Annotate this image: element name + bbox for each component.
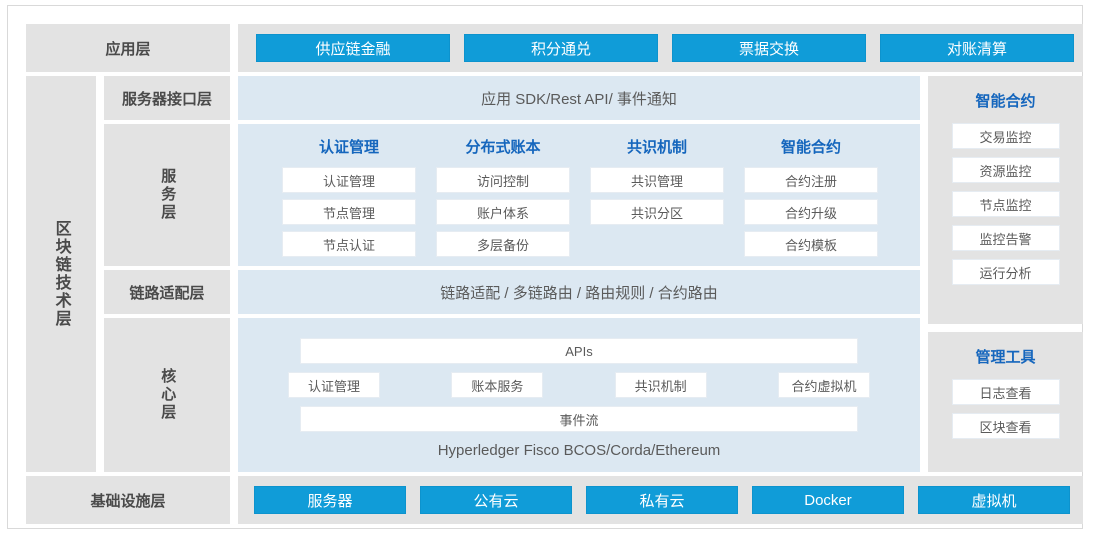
core-module-ledger-service[interactable]: 账本服务 — [451, 372, 543, 398]
application-layer-label: 应用层 — [26, 24, 230, 72]
core-event-stream-box[interactable]: 事件流 — [300, 406, 858, 432]
app-item-bill-exchange[interactable]: 票据交换 — [672, 34, 866, 62]
service-item[interactable]: 共识分区 — [590, 199, 724, 225]
service-column-distributed-ledger: 分布式账本 访问控制 账户体系 多层备份 — [436, 136, 570, 263]
link-adaptation-content: 链路适配 / 多链路由 / 路由规则 / 合约路由 — [238, 270, 920, 314]
panel-item-block-viewer[interactable]: 区块查看 — [952, 413, 1060, 439]
core-apis-box[interactable]: APIs — [300, 338, 858, 364]
infra-item-private-cloud[interactable]: 私有云 — [586, 486, 738, 514]
app-item-reconciliation-settlement[interactable]: 对账清算 — [880, 34, 1074, 62]
blockchain-tech-layer-label: 区块链技术层 — [26, 76, 96, 472]
app-item-points-exchange[interactable]: 积分通兑 — [464, 34, 658, 62]
service-item[interactable]: 节点管理 — [282, 199, 416, 225]
service-item[interactable]: 认证管理 — [282, 167, 416, 193]
panel-item-node-monitor[interactable]: 节点监控 — [952, 191, 1060, 217]
core-module-contract-vm[interactable]: 合约虚拟机 — [778, 372, 870, 398]
core-layer-label: 核心层 — [104, 318, 230, 472]
service-column-consensus: 共识机制 共识管理 共识分区 — [590, 136, 724, 231]
service-column-title: 智能合约 — [744, 136, 878, 157]
core-module-consensus[interactable]: 共识机制 — [615, 372, 707, 398]
service-item[interactable]: 多层备份 — [436, 231, 570, 257]
right-panel-management-tools: 管理工具 日志查看 区块查看 — [928, 332, 1083, 472]
service-layer-label: 服务层 — [104, 124, 230, 266]
panel-item-resource-monitor[interactable]: 资源监控 — [952, 157, 1060, 183]
server-interface-layer-label: 服务器接口层 — [104, 76, 230, 120]
infra-item-virtual-machine[interactable]: 虚拟机 — [918, 486, 1070, 514]
service-item[interactable]: 访问控制 — [436, 167, 570, 193]
link-adaptation-layer-label: 链路适配层 — [104, 270, 230, 314]
service-item[interactable]: 合约升级 — [744, 199, 878, 225]
core-module-auth[interactable]: 认证管理 — [288, 372, 380, 398]
service-column-title: 共识机制 — [590, 136, 724, 157]
right-panel-title: 智能合约 — [928, 90, 1083, 111]
panel-item-runtime-analysis[interactable]: 运行分析 — [952, 259, 1060, 285]
service-layer-content: 认证管理 认证管理 节点管理 节点认证 分布式账本 访问控制 账户体系 多层备份… — [238, 124, 920, 266]
panel-item-monitor-alarm[interactable]: 监控告警 — [952, 225, 1060, 251]
infra-item-public-cloud[interactable]: 公有云 — [420, 486, 572, 514]
service-column-title: 分布式账本 — [436, 136, 570, 157]
panel-item-transaction-monitor[interactable]: 交易监控 — [952, 123, 1060, 149]
service-item[interactable]: 节点认证 — [282, 231, 416, 257]
application-layer-strip: 供应链金融 积分通兑 票据交换 对账清算 — [238, 24, 1083, 72]
infra-item-server[interactable]: 服务器 — [254, 486, 406, 514]
service-item[interactable]: 合约注册 — [744, 167, 878, 193]
right-panel-smart-contract: 智能合约 交易监控 资源监控 节点监控 监控告警 运行分析 — [928, 76, 1083, 324]
service-item[interactable]: 共识管理 — [590, 167, 724, 193]
server-interface-content: 应用 SDK/Rest API/ 事件通知 — [238, 76, 920, 120]
infrastructure-layer-label: 基础设施层 — [26, 476, 230, 524]
panel-item-log-viewer[interactable]: 日志查看 — [952, 379, 1060, 405]
core-layer-content: APIs 认证管理 账本服务 共识机制 合约虚拟机 事件流 Hyperledge… — [238, 318, 920, 472]
service-item[interactable]: 合约模板 — [744, 231, 878, 257]
app-item-supply-chain-finance[interactable]: 供应链金融 — [256, 34, 450, 62]
service-column-title: 认证管理 — [282, 136, 416, 157]
service-item[interactable]: 账户体系 — [436, 199, 570, 225]
infrastructure-layer-strip: 服务器 公有云 私有云 Docker 虚拟机 — [238, 476, 1083, 524]
diagram-frame: 应用层 供应链金融 积分通兑 票据交换 对账清算 区块链技术层 服务器接口层 服… — [7, 5, 1083, 529]
service-column-auth: 认证管理 认证管理 节点管理 节点认证 — [282, 136, 416, 263]
core-engines-text: Hyperledger Fisco BCOS/Corda/Ethereum — [238, 436, 920, 464]
core-modules-row: 认证管理 账本服务 共识机制 合约虚拟机 — [288, 372, 870, 400]
right-panel-title: 管理工具 — [928, 346, 1083, 367]
service-column-smart-contract: 智能合约 合约注册 合约升级 合约模板 — [744, 136, 878, 263]
infra-item-docker[interactable]: Docker — [752, 486, 904, 514]
